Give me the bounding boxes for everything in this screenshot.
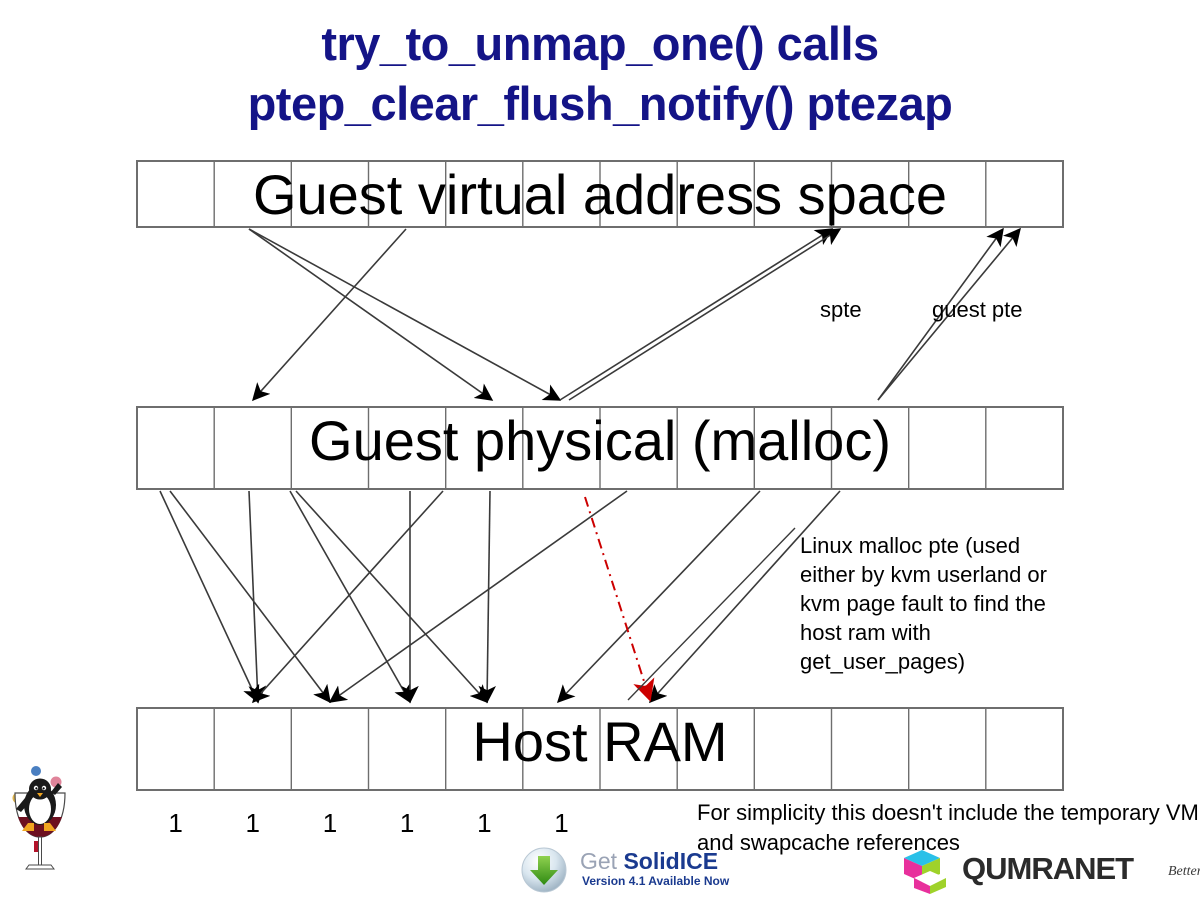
slide-canvas: try_to_unmap_one() calls ptep_clear_flus… bbox=[0, 0, 1200, 901]
refcount-value: 1 bbox=[137, 808, 214, 839]
refcount-value: 1 bbox=[291, 808, 368, 839]
row-guest-physical bbox=[137, 407, 1063, 489]
qumranet-logo[interactable]: QUMRANET Better, Faster, Open bbox=[900, 848, 1195, 894]
refcount-value: 1 bbox=[446, 808, 523, 839]
solidice-get-word: Get bbox=[580, 848, 617, 874]
tux-juggling-wineglass-logo bbox=[4, 765, 76, 885]
solidice-wordmark: Get SolidICE bbox=[580, 848, 718, 875]
annotation-spte: spte bbox=[820, 295, 862, 324]
qumranet-cube-icon bbox=[900, 848, 952, 894]
refcount-row: 1 1 1 1 1 1 bbox=[137, 808, 697, 839]
arrows-physical-to-hostram bbox=[160, 491, 840, 702]
solidice-tagline: Version 4.1 Available Now bbox=[582, 874, 729, 888]
arrow-highlight-red bbox=[585, 497, 650, 700]
annotation-malloc-pte: Linux malloc pte (used either by kvm use… bbox=[800, 531, 1060, 676]
get-solidice-logo[interactable]: Get SolidICE Version 4.1 Available Now bbox=[518, 846, 723, 894]
refcount-value: 1 bbox=[523, 808, 600, 839]
qumranet-wordmark: QUMRANET bbox=[962, 851, 1133, 887]
annotation-guest-pte: guest pte bbox=[932, 295, 1023, 324]
download-arrow-icon bbox=[518, 846, 570, 894]
arrows-virtual-to-physical bbox=[249, 229, 1020, 400]
refcount-value: 1 bbox=[214, 808, 291, 839]
solidice-name-word: SolidICE bbox=[623, 848, 718, 874]
leader-line-malloc-pte bbox=[628, 528, 795, 700]
qumranet-tagline: Better, Faster, Open bbox=[1168, 864, 1200, 880]
diagram-svg bbox=[0, 0, 1200, 901]
row-host-ram bbox=[137, 708, 1063, 790]
refcount-value: 1 bbox=[369, 808, 446, 839]
row-guest-virtual bbox=[137, 161, 1063, 227]
